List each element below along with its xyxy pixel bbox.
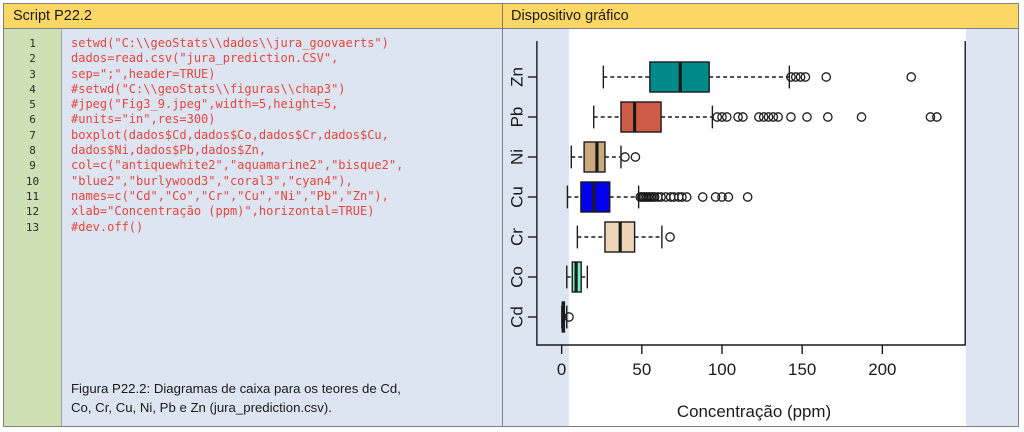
x-tick-label: 150: [788, 360, 816, 379]
graphics-device-header: Dispositivo gráfico: [503, 4, 1018, 29]
box-group-co: [567, 262, 588, 292]
line-number: 6: [4, 112, 61, 127]
x-tick-label: 100: [708, 360, 736, 379]
line-number: 5: [4, 97, 61, 112]
box-rect: [581, 182, 610, 212]
outlier-point: [621, 153, 629, 161]
outlier-point: [803, 113, 811, 121]
outlier-point: [907, 73, 915, 81]
code-line: "blue2","burlywood3","coral3","cyan4"),: [71, 174, 502, 189]
code-line: sep=";",header=TRUE): [71, 67, 502, 82]
line-number: 1: [4, 36, 61, 51]
line-number: 9: [4, 158, 61, 173]
code-block[interactable]: setwd("C:\\geoStats\\dados\\jura_goovaer…: [62, 36, 502, 235]
two-column-frame: Script P22.2 12345678910111213 setwd("C:…: [3, 3, 1019, 427]
code-line: #dev.off(): [71, 220, 502, 235]
figure-caption-line-2: Co, Cr, Cu, Ni, Pb e Zn (jura_prediction…: [71, 398, 492, 417]
outlier-point: [787, 113, 795, 121]
box-rect: [584, 142, 605, 172]
boxplot-chart: 050100150200CdCoCrCuNiPbZnConcentração (…: [503, 29, 1018, 426]
line-number: 8: [4, 143, 61, 158]
box-group-cr: [577, 222, 674, 252]
box-rect: [621, 102, 661, 132]
code-line: dados=read.csv("jura_prediction.CSV",: [71, 51, 502, 66]
script-panel: Script P22.2 12345678910111213 setwd("C:…: [4, 4, 503, 426]
box-group-zn: [603, 62, 915, 92]
outlier-point: [824, 113, 832, 121]
y-tick-label-pb: Pb: [507, 107, 526, 128]
x-tick-label: 0: [557, 360, 566, 379]
outlier-point: [822, 73, 830, 81]
y-tick-label-cd: Cd: [507, 306, 526, 328]
line-number: 7: [4, 128, 61, 143]
x-tick-label: 200: [868, 360, 896, 379]
figure-caption: Figura P22.2: Diagramas de caixa para os…: [71, 379, 492, 417]
outlier-point: [724, 193, 732, 201]
graphics-device-body: 050100150200CdCoCrCuNiPbZnConcentração (…: [503, 29, 1018, 426]
outlier-point: [743, 193, 751, 201]
x-axis-title: Concentração (ppm): [677, 402, 831, 421]
y-tick-label-co: Co: [507, 266, 526, 288]
y-tick-label-cu: Cu: [507, 186, 526, 208]
code-line: names=c("Cd","Co","Cr","Cu","Ni","Pb","Z…: [71, 189, 502, 204]
outlier-point: [666, 233, 674, 241]
outlier-point: [933, 113, 941, 121]
code-line: #units="in",res=300): [71, 112, 502, 127]
code-line: dados$Ni,dados$Pb,dados$Zn,: [71, 143, 502, 158]
line-number: 10: [4, 174, 61, 189]
script-body: 12345678910111213 setwd("C:\\geoStats\\d…: [4, 29, 502, 426]
box-group-cu: [567, 182, 751, 212]
figure-caption-line-1: Figura P22.2: Diagramas de caixa para os…: [71, 379, 492, 398]
line-number: 2: [4, 51, 61, 66]
code-line: col=c("antiquewhite2","aquamarine2","bis…: [71, 158, 502, 173]
y-tick-label-ni: Ni: [507, 149, 526, 165]
graphics-device-panel: Dispositivo gráfico 050100150200CdCoCrCu…: [503, 4, 1018, 426]
outlier-point: [631, 153, 639, 161]
screenshot-root: Script P22.2 12345678910111213 setwd("C:…: [0, 0, 1024, 432]
line-number: 11: [4, 189, 61, 204]
code-area[interactable]: setwd("C:\\geoStats\\dados\\jura_goovaer…: [62, 29, 502, 426]
code-line: boxplot(dados$Cd,dados$Co,dados$Cr,dados…: [71, 128, 502, 143]
line-number: 13: [4, 220, 61, 235]
code-line: #jpeg("Fig3_9.jpeg",width=5,height=5,: [71, 97, 502, 112]
code-line: setwd("C:\\geoStats\\dados\\jura_goovaer…: [71, 36, 502, 51]
line-number: 12: [4, 204, 61, 219]
box-group-ni: [571, 142, 639, 172]
y-tick-label-zn: Zn: [507, 67, 526, 87]
script-panel-header: Script P22.2: [4, 4, 502, 29]
outlier-point: [857, 113, 865, 121]
y-tick-label-cr: Cr: [507, 228, 526, 246]
line-number: 4: [4, 82, 61, 97]
box-group-cd: [562, 302, 573, 332]
box-group-pb: [594, 102, 941, 132]
line-number-gutter: 12345678910111213: [4, 29, 62, 426]
line-number: 3: [4, 67, 61, 82]
x-tick-label: 50: [632, 360, 651, 379]
outlier-point: [699, 193, 707, 201]
code-line: xlab="Concentração (ppm)",horizontal=TRU…: [71, 204, 502, 219]
code-line: #setwd("C:\\geoStats\\figuras\\chap3"): [71, 82, 502, 97]
